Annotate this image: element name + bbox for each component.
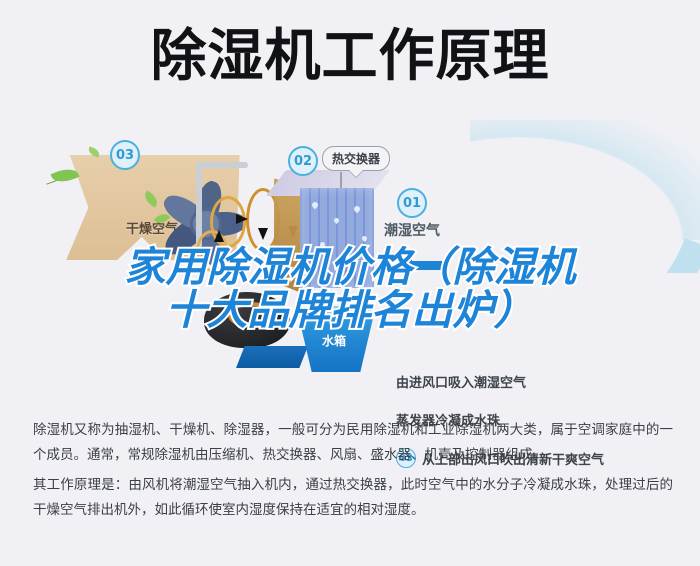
heat-exchanger-callout: 热交换器 <box>322 146 390 171</box>
body-paragraph-2: 其工作原理是：由风机将潮湿空气抽入机内，通过热交换器，此时空气中的水分子冷凝成水… <box>33 473 673 523</box>
arrow-shaft <box>410 261 442 270</box>
humid-airflow-swoosh-secondary-icon <box>470 120 700 240</box>
water-droplet-icon <box>345 255 353 263</box>
water-droplet-icon <box>361 235 368 242</box>
step-badge-03: 03 <box>110 140 140 170</box>
water-tank-label: 水箱 <box>322 332 346 349</box>
flow-arrow-up-icon <box>214 230 224 242</box>
callout-stem <box>340 172 342 188</box>
step-badge-02: 02 <box>288 146 318 176</box>
humid-air-label: 潮湿空气 <box>384 220 440 240</box>
compressor-icon <box>204 292 290 348</box>
step-badge-01: 01 <box>397 188 427 218</box>
refrigerant-pipe-icon <box>196 162 248 168</box>
arrow-head <box>396 258 412 272</box>
flow-arrow-right-icon <box>236 214 248 224</box>
flow-arrow-down-icon <box>258 228 268 240</box>
water-droplet-icon <box>319 241 326 248</box>
heat-exchanger-fins-icon <box>300 188 374 288</box>
water-droplet-icon <box>311 201 319 209</box>
page-root: 除湿机工作原理 干燥空气 <box>0 0 700 566</box>
intake-arrow-icon <box>396 258 442 272</box>
water-tank-icon: 水箱 <box>292 306 380 372</box>
heat-exchanger-icon <box>272 170 392 292</box>
water-droplet-icon <box>333 217 340 224</box>
page-title: 除湿机工作原理 <box>0 26 700 88</box>
body-paragraph-1: 除湿机又称为抽湿机、干燥机、除湿器，一般可分为民用除湿机和工业除湿机两大类，属于… <box>33 418 673 468</box>
compressor-ring-icon <box>228 302 274 328</box>
water-droplet-icon <box>353 205 361 213</box>
dehumidifier-diagram: 干燥空气 <box>0 110 700 410</box>
caption-line-1: 由进风口吸入潮湿空气 <box>396 372 526 391</box>
